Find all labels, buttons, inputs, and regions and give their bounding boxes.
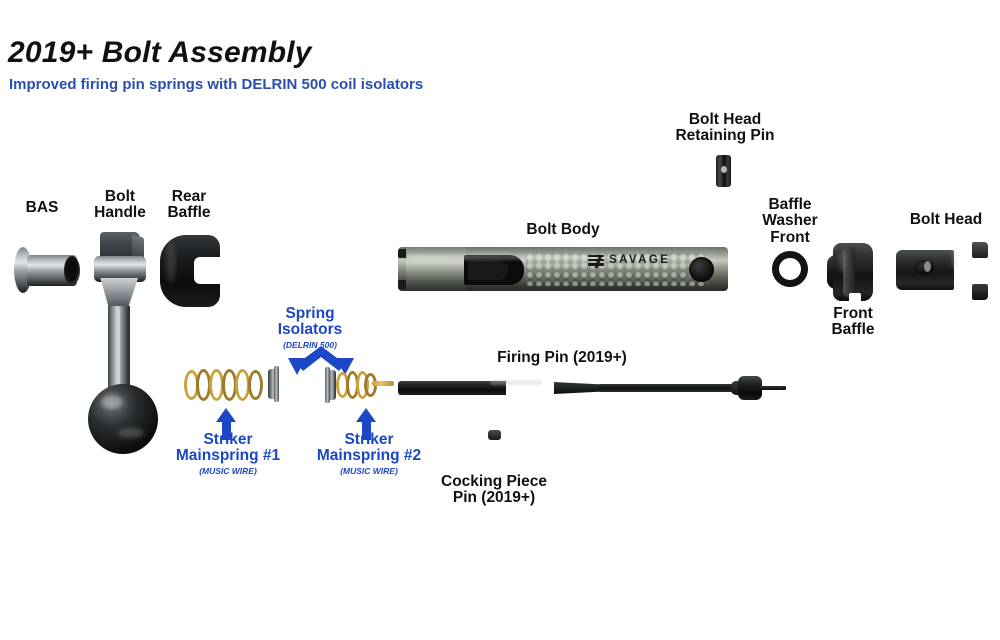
front-baffle-notch [849, 293, 861, 303]
retaining-pin-highlight [721, 166, 727, 173]
savage-logo: SAVAGE [588, 254, 678, 267]
label-spring-isolators: Spring Isolators [262, 306, 358, 339]
diagram-canvas: 2019+ Bolt Assembly Improved firing pin … [0, 0, 1000, 640]
part-bolt-head [896, 240, 992, 302]
part-striker-mainspring-1 [184, 368, 270, 402]
rear-baffle-notch [194, 257, 224, 284]
firing-pin-mid-shaft [598, 384, 748, 392]
bolt-handle-knob [88, 384, 158, 454]
striker-mainspring-2-tail [372, 381, 394, 386]
bolt-head-cross-hole-highlight [924, 261, 931, 272]
label-rear-baffle: Rear Baffle [155, 189, 223, 222]
firing-pin-tip-end [783, 387, 786, 389]
front-baffle-highlight [839, 251, 846, 271]
part-rear-baffle [160, 235, 220, 307]
part-baffle-washer-front [772, 251, 808, 287]
part-front-baffle [827, 243, 879, 301]
savage-wordmark: SAVAGE [609, 254, 670, 266]
label-cocking-piece-pin: Cocking Piece Pin (2019+) [420, 474, 568, 507]
label-baffle-washer-front: Baffle Washer Front [748, 197, 832, 246]
label-front-baffle: Front Baffle [812, 306, 894, 339]
page-title: 2019+ Bolt Assembly [8, 36, 312, 70]
label-striker-mainspring-1: Striker Mainspring #1 [168, 432, 288, 465]
part-cocking-piece-pin [478, 430, 510, 470]
label-bolt-body: Bolt Body [500, 222, 626, 238]
part-bolt-handle [88, 232, 160, 468]
savage-mark-icon [588, 255, 604, 266]
label-bolt-handle: Bolt Handle [84, 189, 156, 222]
part-bolt-body: SAVAGE [398, 247, 728, 291]
label-striker-mainspring-1-material: (MUSIC WIRE) [168, 466, 288, 476]
bolt-handle-knob-gloss-2 [118, 428, 144, 438]
rear-baffle-highlight [166, 243, 176, 283]
bolt-head-flange-highlight [952, 246, 958, 270]
label-striker-mainspring-2-material: (MUSIC WIRE) [308, 466, 430, 476]
label-bolt-head-retaining-pin: Bolt Head Retaining Pin [662, 112, 788, 145]
cocking-piece-pin-base [481, 456, 508, 469]
firing-pin-flange [738, 376, 762, 400]
label-bas: BAS [10, 200, 74, 216]
label-striker-mainspring-2: Striker Mainspring #2 [308, 432, 430, 465]
bolt-handle-knob-gloss [101, 395, 123, 409]
bolt-body-ejection-slot-inner [468, 260, 508, 280]
bolt-head-lug-top [972, 242, 988, 258]
part-bas [14, 243, 86, 297]
label-firing-pin: Firing Pin (2019+) [462, 350, 662, 366]
part-firing-pin [398, 375, 786, 401]
spring-isolator-2-flange [325, 367, 330, 403]
bolt-head-lug-bottom [972, 284, 988, 300]
spring-isolator-1-flange [274, 366, 279, 402]
part-striker-mainspring-2 [332, 370, 378, 400]
bolt-body-pin-hole [689, 257, 714, 282]
label-bolt-head: Bolt Head [898, 212, 994, 228]
firing-pin-collar-highlight [490, 380, 542, 385]
bas-bore-inner [68, 260, 77, 281]
cocking-piece-pin-shank [489, 438, 500, 458]
page-subtitle: Improved firing pin springs with DELRIN … [9, 76, 423, 93]
